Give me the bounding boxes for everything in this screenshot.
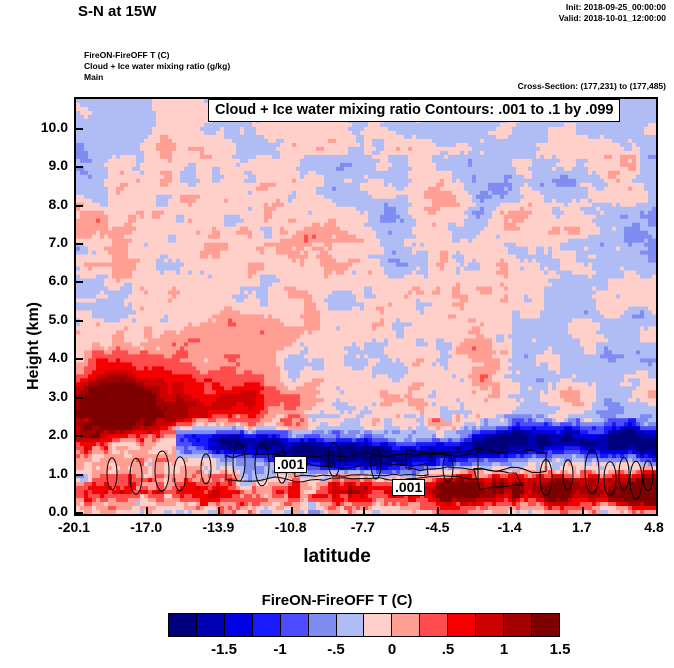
cross-section-info: Cross-Section: (177,231) to (177,485) [518, 81, 666, 91]
x-axis-tick-label: -7.7 [333, 519, 393, 535]
colorbar-cell [281, 614, 309, 636]
y-axis-tick [74, 474, 83, 476]
colorbar-cell [448, 614, 476, 636]
field-line: Cloud + Ice water mixing ratio (g/kg) [84, 61, 230, 72]
y-axis-tick [74, 397, 83, 399]
colorbar-title: FireON-FireOFF T (C) [0, 592, 674, 609]
y-axis-tick-label: 7.0 [8, 234, 68, 250]
colorbar-tick-label: -1.5 [194, 641, 254, 658]
contour-value-label: .001 [274, 456, 307, 473]
contour-banner: Cloud + Ice water mixing ratio Contours:… [208, 99, 620, 122]
y-axis-tick-label: 5.0 [8, 311, 68, 327]
colorbar [168, 613, 560, 637]
colorbar-tick-label: .5 [418, 641, 478, 658]
contour-value-label: .001 [392, 479, 425, 496]
y-axis-tick [74, 128, 83, 130]
y-axis-tick-label: 0.0 [8, 503, 68, 519]
y-axis-tick [74, 358, 83, 360]
x-axis-tick-label: -13.9 [188, 519, 248, 535]
x-axis-tick [510, 507, 512, 516]
colorbar-cell [169, 614, 197, 636]
field-heatmap [76, 99, 656, 514]
x-axis-title: latitude [0, 546, 674, 568]
colorbar-cell [532, 614, 559, 636]
colorbar-cell [337, 614, 365, 636]
y-axis-tick-label: 9.0 [8, 157, 68, 173]
x-axis-tick-label: 1.7 [552, 519, 612, 535]
y-axis-tick-label: 8.0 [8, 196, 68, 212]
colorbar-labels: -1.5-1-.50.511.5 [118, 641, 610, 663]
y-axis-tick-label: 10.0 [8, 119, 68, 135]
x-axis-tick [218, 507, 220, 516]
x-axis-tick-label: -1.4 [480, 519, 540, 535]
run-time-block: Init: 2018-09-25_00:00:00 Valid: 2018-10… [559, 2, 666, 24]
x-axis-labels: -20.1-17.0-13.9-10.8-7.7-4.5-1.41.74.8 [74, 519, 658, 541]
y-axis-tick-label: 4.0 [8, 349, 68, 365]
y-axis-tick [74, 205, 83, 207]
domain-line: Main [84, 72, 230, 83]
page-title: S-N at 15W [78, 3, 156, 20]
colorbar-cell [253, 614, 281, 636]
y-axis-tick [74, 243, 83, 245]
colorbar-cell [309, 614, 337, 636]
y-axis-tick-label: 3.0 [8, 388, 68, 404]
plot-area [74, 97, 658, 516]
colorbar-tick-label: 0 [362, 641, 422, 658]
colorbar-cell [504, 614, 532, 636]
colorbar-cell [364, 614, 392, 636]
field-description-block: FireON-FireOFF T (C) Cloud + Ice water m… [84, 50, 230, 83]
colorbar-cell [225, 614, 253, 636]
colorbar-tick-label: -1 [250, 641, 310, 658]
x-axis-tick-label: -10.8 [261, 519, 321, 535]
valid-time: Valid: 2018-10-01_12:00:00 [559, 13, 666, 24]
colorbar-cell [197, 614, 225, 636]
y-axis-tick-label: 1.0 [8, 465, 68, 481]
colorbar-tick-label: 1.5 [530, 641, 590, 658]
x-axis-tick [437, 507, 439, 516]
y-axis-tick [74, 281, 83, 283]
x-axis-tick [291, 507, 293, 516]
colorbar-tick-label: -.5 [306, 641, 366, 658]
heatmap-cells [76, 99, 656, 514]
colorbar-tick-label: 1 [474, 641, 534, 658]
colorbar-cell [392, 614, 420, 636]
y-axis-tick [74, 512, 83, 514]
y-axis-tick-label: 2.0 [8, 426, 68, 442]
variable-line: FireON-FireOFF T (C) [84, 50, 230, 61]
x-axis-tick-label: -20.1 [44, 519, 104, 535]
y-axis-tick [74, 435, 83, 437]
y-axis-tick-label: 6.0 [8, 272, 68, 288]
colorbar-cell [476, 614, 504, 636]
x-axis-tick-label: -4.5 [407, 519, 467, 535]
y-axis-tick [74, 320, 83, 322]
y-axis-tick [74, 166, 83, 168]
x-axis-tick [582, 507, 584, 516]
x-axis-tick [146, 507, 148, 516]
x-axis-tick [363, 507, 365, 516]
init-time: Init: 2018-09-25_00:00:00 [559, 2, 666, 13]
colorbar-cell [420, 614, 448, 636]
x-axis-tick-label: -17.0 [116, 519, 176, 535]
y-axis-labels: Height (km) 10.09.08.07.06.05.04.03.02.0… [4, 97, 68, 516]
x-axis-tick-label: 4.8 [624, 519, 674, 535]
